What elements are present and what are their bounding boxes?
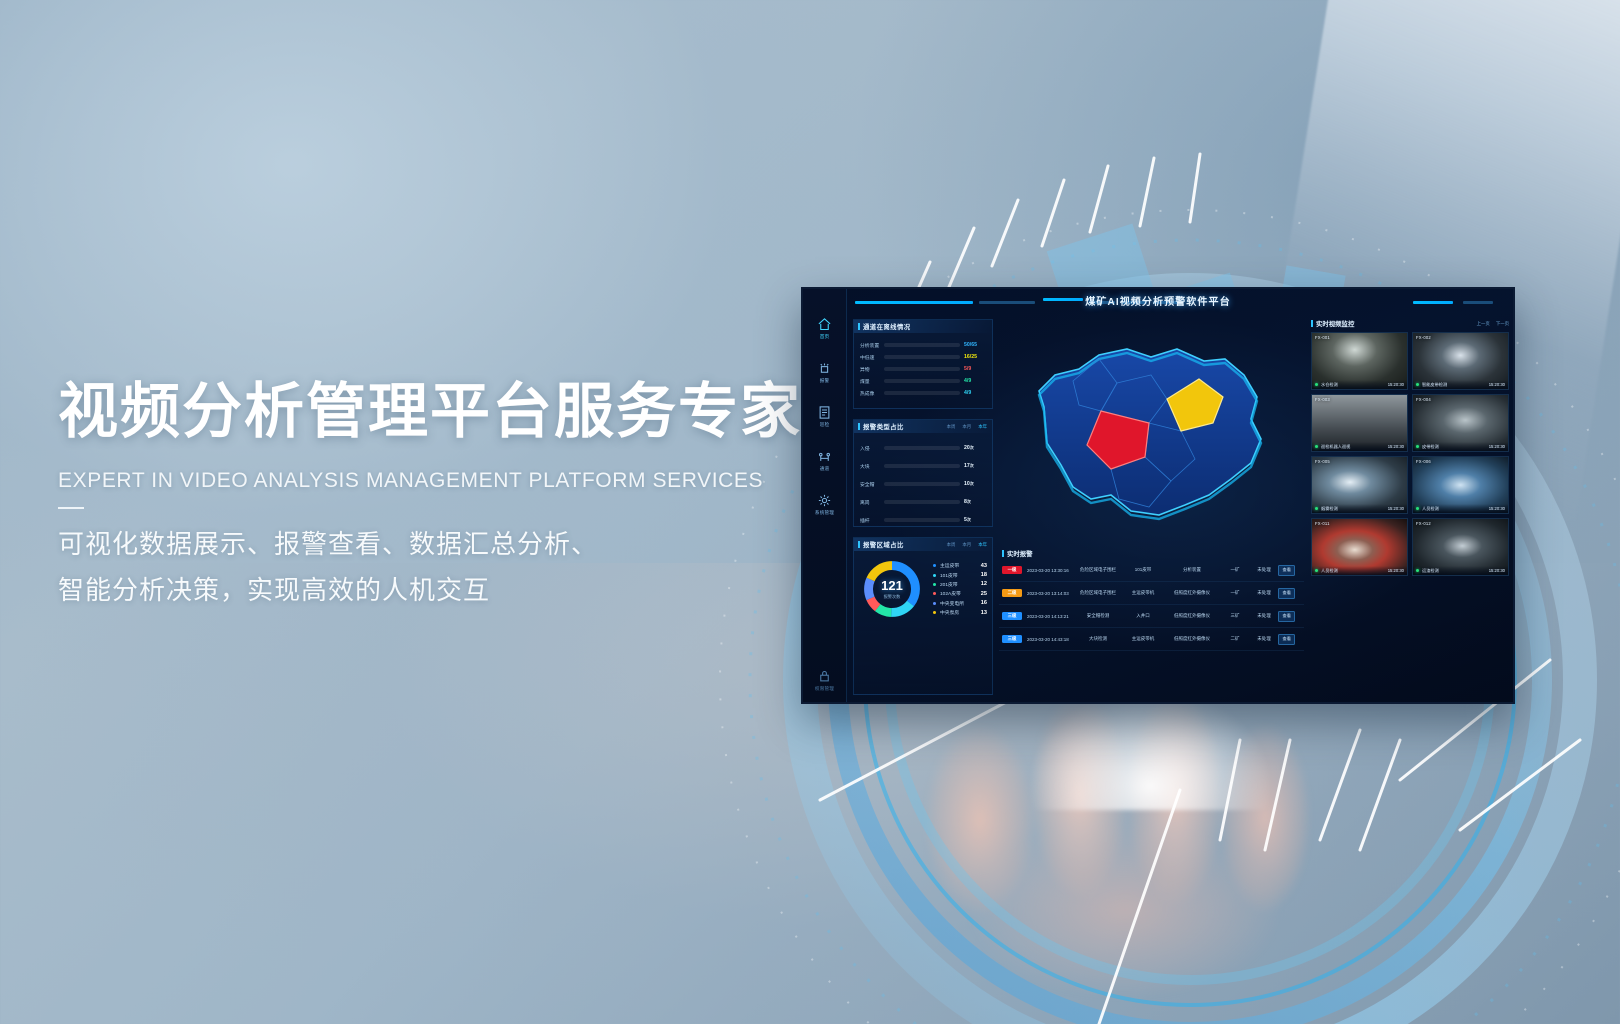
alarm-status: 未处理 [1250,636,1278,642]
alarm-type-label: 入侵 [860,445,884,452]
video-grid: FX-001 水仓检测 15:20:30 FX-002 智能皮带检测 15:20… [1311,332,1509,576]
sidebar-item-system[interactable]: 系统管理 [803,493,846,516]
video-tile-footer: 人员检测 15:20:30 [1413,504,1508,513]
alarm-area-header: 报警区域占比 本周 本月 本年 [854,538,992,551]
alarm-type-label: 大块 [860,463,884,470]
camera-id: FX-003 [1315,397,1330,402]
tab-year[interactable]: 本年 [978,424,987,430]
sidebar-item-home[interactable]: 首页 [803,317,846,340]
video-name: 烟雾检测 [1321,506,1388,512]
alarm-mine: 三矿 [1220,613,1250,619]
sidebar-label-alarm: 报警 [820,378,830,383]
camera-id: FX-006 [1416,459,1431,464]
channel-row: 异物 5/9 [860,363,986,375]
channel-icon [817,449,832,464]
alarm-type-value: 10次 [964,481,986,487]
table-row[interactable]: 二级 2023-03-20 13:14:03 危险区域电子围栏 主运皮带机 低照… [999,582,1304,605]
alarm-device: 分析装置 [1164,567,1220,573]
video-name: 巡检机器人巡视 [1321,444,1388,450]
donut-caption: 报警次数 [884,594,901,600]
status-dot-icon [1416,507,1419,510]
status-dot-icon [1416,569,1419,572]
alarm-type-label: 离岗 [860,499,884,506]
alarm-level-badge: 一级 [1002,566,1022,574]
alarm-type-track [884,482,960,486]
alarm-location: 主运皮带机 [1122,636,1164,642]
alarm-type: 大块检测 [1074,636,1122,642]
video-tile[interactable]: FX-002 智能皮带检测 15:20:30 [1412,332,1509,390]
alarm-device: 低照度红外摄像仪 [1164,613,1220,619]
alarm-type: 危险区域电子围栏 [1074,567,1122,573]
dashboard-sidebar: 首页 报警 巡检 [803,289,847,702]
legend-label: 中央变电所 [940,600,973,607]
channel-rows: 分析装置 50/65 中低速 16/25 异物 5/9 煤量 4 [854,333,992,403]
alarm-device: 低照度红外摄像仪 [1164,590,1220,596]
alarm-mine: 一矿 [1220,590,1250,596]
panel-tick-icon [858,323,860,330]
video-panel-header: 实时视频监控 上一页 下一页 [1311,317,1509,330]
hero-divider [58,507,84,509]
video-time: 15:20:30 [1388,568,1404,573]
sidebar-footer-label: 权限管理 [815,686,834,691]
alarm-type: 安全帽检测 [1074,613,1122,619]
video-name: 水仓检测 [1321,382,1388,388]
alarm-area-chart: 121 报警次数 主运皮带 43 101皮带 18 [854,551,992,620]
dashboard-header: 煤矿AI视频分析预警软件平台 [803,289,1513,315]
camera-id: FX-012 [1416,521,1431,526]
alarm-type-row: 离岗 8次 [860,493,986,511]
channel-row-value: 4/9 [964,378,986,384]
alarm-time: 2023-03-20 13:14:03 [1022,591,1074,596]
video-name: 人员检测 [1422,506,1489,512]
alarm-level-badge: 三级 [1002,612,1022,620]
alarm-location: 入井口 [1122,613,1164,619]
view-button[interactable]: 查看 [1278,634,1295,645]
sidebar-item-channel[interactable]: 通道 [803,449,846,472]
video-tile[interactable]: FX-011 人员检测 15:20:30 [1311,518,1408,576]
donut-chart: 121 报警次数 [861,558,923,620]
dashboard-title: 煤矿AI视频分析预警软件平台 [803,293,1513,308]
donut-total: 121 [881,579,903,592]
alarm-type-rows: 入侵 20次 大块 17次 安全帽 10次 离岗 8次 [854,433,992,533]
view-button[interactable]: 查看 [1278,588,1295,599]
video-name: 皮带检测 [1422,444,1489,450]
legend-value: 18 [973,572,987,578]
tab-month[interactable]: 本月 [962,424,971,430]
sidebar-item-inspection[interactable]: 巡检 [803,405,846,428]
panel-tick-icon [1311,320,1313,327]
view-button[interactable]: 查看 [1278,611,1295,622]
channel-row-track [884,379,960,383]
alarm-type-track [884,500,960,504]
legend-item: 101皮带 18 [933,570,987,579]
channel-row-label: 煤量 [860,378,884,385]
video-time: 15:20:30 [1388,382,1404,387]
alarm-status: 未处理 [1250,567,1278,573]
video-tile-footer: 人员检测 15:20:30 [1312,566,1407,575]
legend-item: 主运皮带 43 [933,561,987,570]
video-tile[interactable]: FX-001 水仓检测 15:20:30 [1311,332,1408,390]
legend-value: 43 [973,563,987,569]
channel-row: 分析装置 50/65 [860,339,986,351]
legend-label: 中央泵房 [940,609,973,616]
legend-item: 201皮带 12 [933,580,987,589]
alarm-area-tabs: 本周 本月 本年 [947,542,992,548]
alarm-mine: 一矿 [1220,567,1250,573]
hand-highlight [1030,690,1270,810]
channel-row-track [884,391,960,395]
channel-row-value: 4/9 [964,390,986,396]
alarm-type-row: 安全帽 10次 [860,475,986,493]
table-row[interactable]: 三级 2023-03-20 14:43:18 大块检测 主运皮带机 低照度红外摄… [999,628,1304,651]
video-time: 15:20:30 [1388,444,1404,449]
channel-row: 煤量 4/9 [860,375,986,387]
donut-center: 121 报警次数 [861,558,923,620]
camera-id: FX-011 [1315,521,1330,526]
alarm-time: 2023-03-20 14:43:18 [1022,637,1074,642]
hero-desc-line-2: 智能分析决策，实现高效的人机交互 [58,567,818,613]
alarm-type: 危险区域电子围栏 [1074,590,1122,596]
alarm-location: 101皮带 [1122,567,1164,573]
view-button[interactable]: 查看 [1278,565,1295,576]
video-time: 15:20:30 [1489,444,1505,449]
realtime-alarm-header: 实时报警 [999,547,1304,559]
sidebar-footer[interactable]: 权限管理 [803,669,846,692]
video-tile-footer: 运渣检测 15:20:30 [1413,566,1508,575]
channel-row-label: 分析装置 [860,342,884,349]
camera-id: FX-004 [1416,397,1431,402]
alarm-level-badge: 三级 [1002,635,1022,643]
channel-row-label: 中低速 [860,354,884,361]
status-dot-icon [1315,445,1318,448]
video-time: 15:20:30 [1489,382,1505,387]
gear-icon [817,493,832,508]
video-tile-footer: 巡检机器人巡视 15:20:30 [1312,442,1407,451]
channel-row: 热成像 4/9 [860,387,986,399]
sidebar-label-channel: 通道 [820,466,830,471]
dashboard: 煤矿AI视频分析预警软件平台 首页 报警 [803,289,1513,702]
video-tile[interactable]: FX-012 运渣检测 15:20:30 [1412,518,1509,576]
next-page-button[interactable]: 下一页 [1496,321,1509,327]
status-dot-icon [1416,445,1419,448]
video-pagination: 上一页 下一页 [1477,321,1509,327]
status-dot-icon [1315,569,1318,572]
region-map[interactable] [999,319,1304,541]
video-tile[interactable]: FX-004 皮带检测 15:20:30 [1412,394,1509,452]
legend-item: 中央泵房 13 [933,608,987,617]
sidebar-item-alarm[interactable]: 报警 [803,361,846,384]
sidebar-label-home: 首页 [820,334,830,339]
video-tile-footer: 皮带检测 15:20:30 [1413,442,1508,451]
video-time: 15:20:30 [1489,568,1505,573]
realtime-alarm-title: 实时报警 [1007,549,1033,558]
channel-row-track [884,343,960,347]
video-monitor-panel: 实时视频监控 上一页 下一页 FX-001 水仓检测 15:20:30 [1311,317,1509,696]
alarm-type-title: 报警类型占比 [863,422,904,431]
alarm-icon [817,361,832,376]
channel-row-track [884,355,960,359]
table-row[interactable]: 一级 2023-03-20 13:30:16 危险区域电子围栏 101皮带 分析… [999,559,1304,582]
alarm-type-label: 安全帽 [860,481,884,488]
permission-icon [817,669,832,684]
video-name: 智能皮带检测 [1422,382,1489,388]
legend-item: 中央变电所 16 [933,599,987,608]
alarm-type-row: 入侵 20次 [860,439,986,457]
alarm-type-label: 插杆 [860,517,884,524]
channel-status-panel: 通道在离线情况 分析装置 50/65 中低速 16/25 异物 5/9 [853,319,993,409]
camera-id: FX-001 [1315,335,1330,340]
video-tile[interactable]: FX-006 人员检测 15:20:30 [1412,456,1509,514]
donut-legend: 主运皮带 43 101皮带 18 201皮带 12 [923,558,987,620]
alarm-time: 2023-03-20 13:30:16 [1022,568,1074,573]
legend-label: 201皮带 [940,581,973,588]
status-dot-icon [1315,507,1318,510]
video-panel-title: 实时视频监控 [1316,319,1354,328]
alarm-type-tabs: 本周 本月 本年 [947,424,992,430]
alarm-type-track [884,518,960,522]
channel-row-value: 5/9 [964,366,986,372]
alarm-location: 主运皮带机 [1122,590,1164,596]
realtime-alarm-panel: 实时报警 一级 2023-03-20 13:30:16 危险区域电子围栏 101… [999,547,1304,695]
tab-year[interactable]: 本年 [978,542,987,548]
video-name: 人员检测 [1321,568,1388,574]
panel-tick-icon [1002,550,1004,557]
alarm-type-row: 大块 17次 [860,457,986,475]
alarm-area-title: 报警区域占比 [863,540,904,549]
channel-panel-title: 通道在离线情况 [863,322,911,331]
sidebar-label-system: 系统管理 [815,510,834,515]
channel-row: 中低速 16/25 [860,351,986,363]
alarm-status: 未处理 [1250,590,1278,596]
tab-week[interactable]: 本周 [947,424,956,430]
channel-row-label: 异物 [860,366,884,373]
status-dot-icon [1315,383,1318,386]
monitor-screen: 煤矿AI视频分析预警软件平台 首页 报警 [801,287,1515,704]
alarm-type-row: 插杆 5次 [860,511,986,529]
legend-label: 主运皮带 [940,562,973,569]
tab-week[interactable]: 本周 [947,542,956,548]
camera-id: FX-005 [1315,459,1330,464]
alarm-type-panel: 报警类型占比 本周 本月 本年 入侵 20次 大块 17次 [853,419,993,527]
home-icon [817,317,832,332]
legend-item: 102A皮带 25 [933,589,987,598]
alarm-type-header: 报警类型占比 本周 本月 本年 [854,420,992,433]
alarm-type-track [884,446,960,450]
channel-row-value: 50/65 [964,342,986,348]
alarm-device: 低照度红外摄像仪 [1164,636,1220,642]
video-name: 运渣检测 [1422,568,1489,574]
alarm-type-value: 8次 [964,499,986,505]
alarm-time: 2023-03-20 14:13:21 [1022,614,1074,619]
sidebar-label-inspection: 巡检 [820,422,830,427]
channel-row-label: 热成像 [860,390,884,397]
camera-id: FX-002 [1416,335,1431,340]
legend-value: 12 [973,581,987,587]
channel-row-value: 16/25 [964,354,986,360]
video-time: 15:20:30 [1489,506,1505,511]
panel-tick-icon [858,541,860,548]
video-tile[interactable]: FX-005 烟雾检测 15:20:30 [1311,456,1408,514]
hero-desc-line-1: 可视化数据展示、报警查看、数据汇总分析、 [58,521,818,567]
video-tile[interactable]: FX-003 巡检机器人巡视 15:20:30 [1311,394,1408,452]
page-title: 视频分析管理平台服务专家 [58,378,818,445]
alarm-type-value: 20次 [964,445,986,451]
legend-value: 13 [973,610,987,616]
channel-panel-header: 通道在离线情况 [854,320,992,333]
hero-copy: 视频分析管理平台服务专家 EXPERT IN VIDEO ANALYSIS MA… [58,378,818,614]
alarm-type-value: 5次 [964,517,986,523]
alarm-mine: 二矿 [1220,636,1250,642]
tab-month[interactable]: 本月 [962,542,971,548]
legend-label: 102A皮带 [940,590,973,597]
channel-row-track [884,367,960,371]
video-time: 15:20:30 [1388,506,1404,511]
legend-value: 25 [973,591,987,597]
table-row[interactable]: 三级 2023-03-20 14:13:21 安全帽检测 入井口 低照度红外摄像… [999,605,1304,628]
legend-label: 101皮带 [940,572,973,579]
status-dot-icon [1416,383,1419,386]
prev-page-button[interactable]: 上一页 [1477,321,1490,327]
video-tile-footer: 烟雾检测 15:20:30 [1312,504,1407,513]
inspection-icon [817,405,832,420]
panel-tick-icon [858,423,860,430]
hero-subtitle-en: EXPERT IN VIDEO ANALYSIS MANAGEMENT PLAT… [58,469,818,493]
alarm-type-track [884,464,960,468]
legend-value: 16 [973,600,987,606]
alarm-level-badge: 二级 [1002,589,1022,597]
video-tile-footer: 水仓检测 15:20:30 [1312,380,1407,389]
alarm-status: 未处理 [1250,613,1278,619]
alarm-type-value: 17次 [964,463,986,469]
video-tile-footer: 智能皮带检测 15:20:30 [1413,380,1508,389]
alarm-area-panel: 报警区域占比 本周 本月 本年 [853,537,993,695]
